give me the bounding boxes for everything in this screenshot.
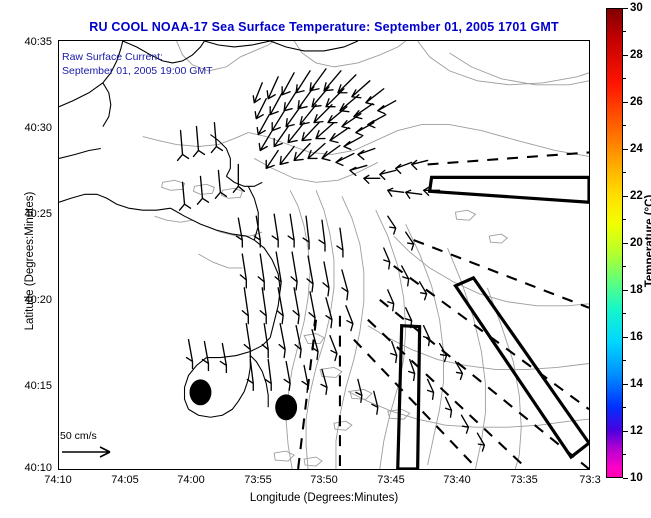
station-marker [275,394,297,420]
colorbar-tick-18 [623,290,628,291]
colorbar-tick-24 [623,149,628,150]
bathymetry-contours [143,41,589,469]
ytick-0: 40:35 [24,36,52,48]
xtick-1: 74:05 [111,474,139,486]
colorbar-label-30: 30 [630,2,643,14]
colorbar-label-12: 12 [630,425,643,437]
colorbar-tick-26 [623,102,628,103]
xtick-2: 74:00 [177,474,205,486]
colorbar-tick-12 [623,431,628,432]
vector-scale-legend: 50 cm/s [60,430,118,460]
map-canvas [59,41,589,469]
colorbar-label-26: 26 [630,96,643,108]
colorbar-label-18: 18 [630,284,643,296]
colorbar-tick-minor [623,172,626,173]
xtick-3: 73:55 [244,474,272,486]
sst-map-figure: RU COOL NOAA-17 Sea Surface Temperature:… [0,0,651,518]
surface-current-vectors [178,69,485,451]
ytick-1: 40:30 [24,122,52,134]
colorbar-tick-16 [623,337,628,338]
shipping-lanes-solid [398,177,589,469]
xtick-0: 74:10 [44,474,72,486]
xtick-8: 73:3 [579,474,600,486]
colorbar-tick-minor [623,219,626,220]
chart-title: RU COOL NOAA-17 Sea Surface Temperature:… [58,20,590,34]
colorbar-label-24: 24 [630,143,643,155]
colorbar-tick-minor [623,313,626,314]
ytick-5: 40:10 [24,462,52,474]
ytick-4: 40:15 [24,380,52,392]
colorbar-label-10: 10 [630,472,643,484]
colorbar [606,8,623,478]
colorbar-tick-30 [623,8,628,9]
station-markers [190,379,298,420]
colorbar-tick-28 [623,55,628,56]
colorbar-tick-minor [623,266,626,267]
colorbar-tick-minor [623,454,626,455]
colorbar-tick-20 [623,243,628,244]
colorbar-tick-22 [623,196,628,197]
raw-current-line1: Raw Surface Current: [62,50,213,64]
colorbar-label-20: 20 [630,237,643,249]
plot-area[interactable] [58,40,590,470]
colorbar-gradient [606,8,623,478]
raw-current-annotation: Raw Surface Current: September 01, 2005 … [62,50,213,78]
colorbar-label-28: 28 [630,49,643,61]
xtick-4: 73:50 [310,474,338,486]
colorbar-tick-minor [623,78,626,79]
colorbar-label-14: 14 [630,378,643,390]
colorbar-tick-minor [623,31,626,32]
colorbar-label-16: 16 [630,331,643,343]
y-axis-label: Latitude (Degrees:Minutes) [24,151,36,371]
raw-current-line2: September 01, 2005 19:00 GMT [62,64,213,78]
colorbar-tick-14 [623,384,628,385]
colorbar-axis-label: Temperature (°C) [644,151,651,331]
vector-scale-arrow-icon [60,444,118,460]
colorbar-tick-minor [623,407,626,408]
colorbar-tick-10 [623,478,628,479]
xtick-7: 73:35 [510,474,538,486]
colorbar-tick-minor [623,125,626,126]
vector-scale-label: 50 cm/s [60,430,118,442]
station-marker [190,379,212,405]
xtick-6: 73:40 [443,474,471,486]
x-axis-label: Longitude (Degrees:Minutes) [58,492,590,504]
xtick-5: 73:45 [377,474,405,486]
colorbar-label-22: 22 [630,190,643,202]
colorbar-tick-minor [623,360,626,361]
